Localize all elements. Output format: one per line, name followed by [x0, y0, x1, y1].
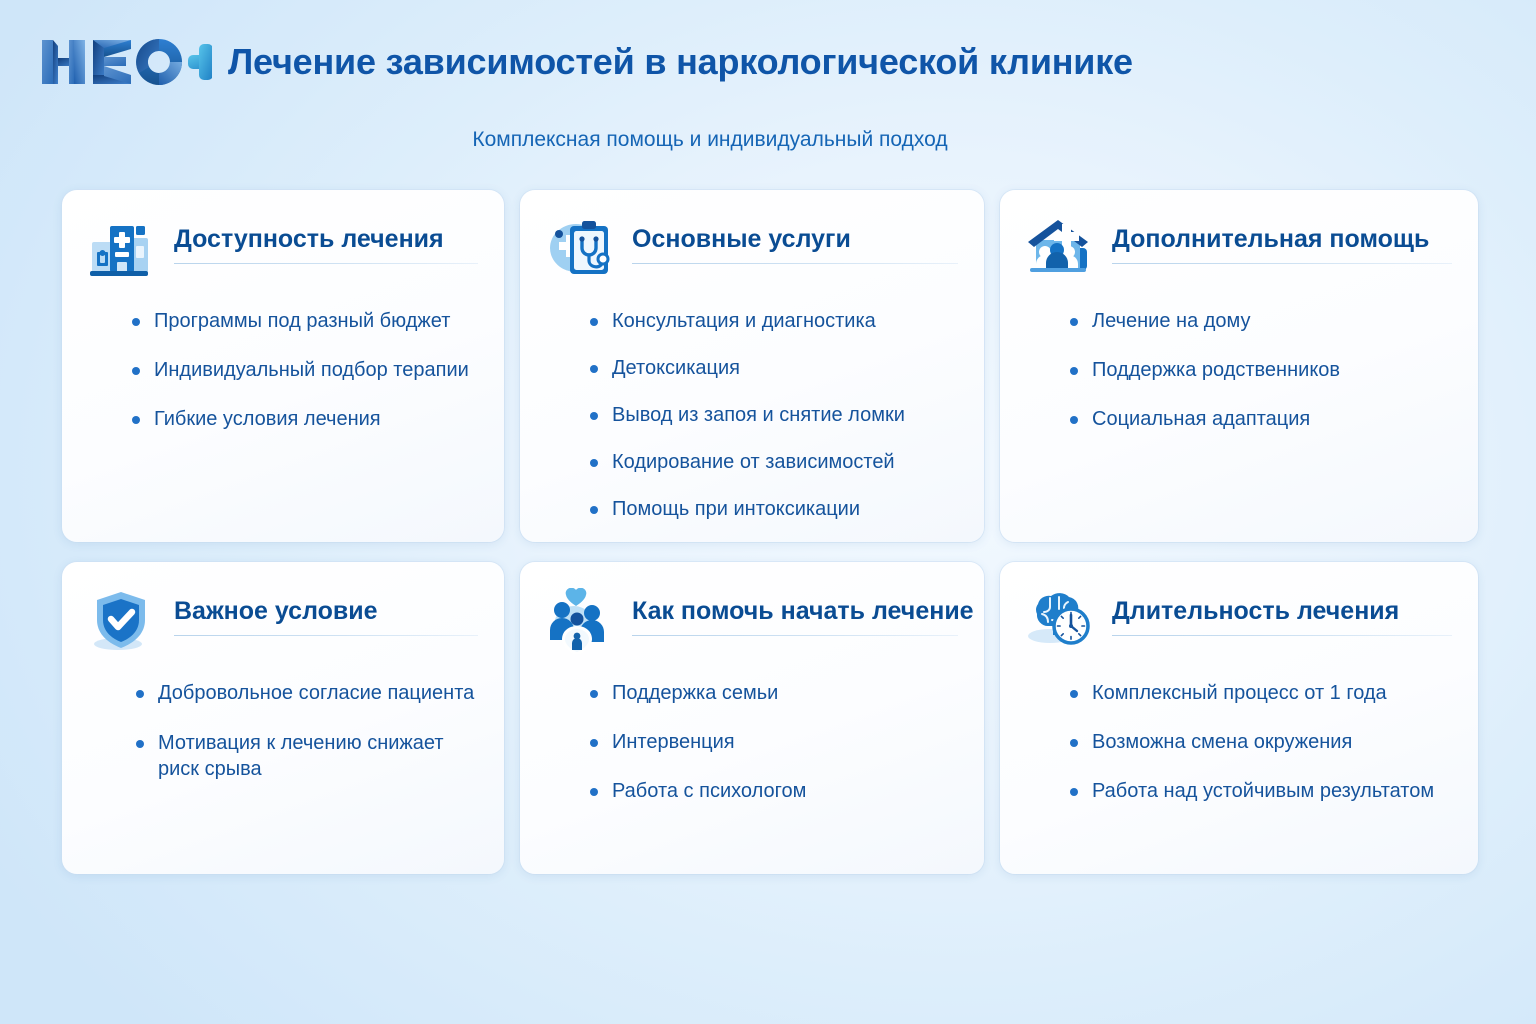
card-title: Основные услуги	[632, 226, 958, 252]
title-divider	[632, 635, 958, 636]
card-header: Важное условие	[88, 586, 478, 660]
card-title: Как помочь начать лечение	[632, 598, 958, 624]
list-item: Консультация и диагностика	[590, 308, 958, 334]
card-header: Основные услуги	[546, 214, 958, 288]
title-divider	[174, 635, 478, 636]
card-bullet-list: Комплексный процесс от 1 года Возможна с…	[1026, 680, 1452, 804]
card-title: Важное условие	[174, 598, 478, 624]
family-heart-icon	[546, 588, 620, 654]
list-item: Комплексный процесс от 1 года	[1070, 680, 1452, 706]
page-subtitle: Комплексная помощь и индивидуальный подх…	[0, 128, 1420, 152]
card-title-wrap: Дополнительная помощь	[1112, 214, 1452, 264]
hospital-building-icon	[88, 216, 162, 282]
list-item: Детоксикация	[590, 355, 958, 381]
card-bullet-list: Консультация и диагностика Детоксикация …	[546, 308, 958, 522]
card-availability[interactable]: Доступность лечения Программы под разный…	[62, 190, 504, 542]
card-title-wrap: Длительность лечения	[1112, 586, 1452, 636]
card-services[interactable]: Основные услуги Консультация и диагности…	[520, 190, 984, 542]
card-extra-help[interactable]: Дополнительная помощь Лечение на дому По…	[1000, 190, 1478, 542]
card-bullet-list: Лечение на дому Поддержка родственников …	[1026, 308, 1452, 432]
list-item: Кодирование от зависимостей	[590, 449, 958, 475]
card-header: Дополнительная помощь	[1026, 214, 1452, 288]
card-bullet-list: Программы под разный бюджет Индивидуальн…	[88, 308, 478, 432]
list-item: Программы под разный бюджет	[132, 308, 478, 334]
clipboard-stethoscope-icon	[546, 216, 620, 282]
page-header: Лечение зависимостей в наркологической к…	[0, 0, 1536, 175]
list-item: Социальная адаптация	[1070, 406, 1452, 432]
title-divider	[1112, 635, 1452, 636]
card-header: Доступность лечения	[88, 214, 478, 288]
title-divider	[1112, 263, 1452, 264]
list-item: Лечение на дому	[1070, 308, 1452, 334]
brain-clock-icon	[1026, 588, 1100, 654]
list-item: Гибкие условия лечения	[132, 406, 478, 432]
card-duration[interactable]: Длительность лечения Комплексный процесс…	[1000, 562, 1478, 874]
card-header: Как помочь начать лечение	[546, 586, 958, 660]
card-title: Доступность лечения	[174, 226, 478, 252]
list-item: Мотивация к лечению снижает риск срыва	[136, 730, 478, 782]
title-divider	[174, 263, 478, 264]
card-title: Дополнительная помощь	[1112, 226, 1452, 252]
card-title: Длительность лечения	[1112, 598, 1452, 624]
title-divider	[632, 263, 958, 264]
card-title-wrap: Как помочь начать лечение	[632, 586, 958, 636]
card-title-wrap: Основные услуги	[632, 214, 958, 264]
neo-plus-logo-icon	[36, 34, 212, 90]
list-item: Работа с психологом	[590, 778, 958, 804]
cards-grid: Доступность лечения Программы под разный…	[62, 190, 1474, 874]
list-item: Возможна смена окружения	[1070, 729, 1452, 755]
home-family-care-icon	[1026, 216, 1100, 282]
brand-row: Лечение зависимостей в наркологической к…	[36, 34, 1133, 90]
card-title-wrap: Важное условие	[174, 586, 478, 636]
list-item: Поддержка семьи	[590, 680, 958, 706]
list-item: Помощь при интоксикации	[590, 496, 958, 522]
card-how-to-start[interactable]: Как помочь начать лечение Поддержка семь…	[520, 562, 984, 874]
list-item: Работа над устойчивым результатом	[1070, 778, 1452, 804]
list-item: Интервенция	[590, 729, 958, 755]
shield-check-icon	[88, 588, 162, 654]
card-title-wrap: Доступность лечения	[174, 214, 478, 264]
list-item: Добровольное согласие пациента	[136, 680, 478, 706]
card-bullet-list: Поддержка семьи Интервенция Работа с пси…	[546, 680, 958, 804]
card-consent[interactable]: Важное условие Добровольное согласие пац…	[62, 562, 504, 874]
list-item: Вывод из запоя и снятие ломки	[590, 402, 958, 428]
page-title: Лечение зависимостей в наркологической к…	[228, 44, 1133, 80]
list-item: Поддержка родственников	[1070, 357, 1452, 383]
card-header: Длительность лечения	[1026, 586, 1452, 660]
list-item: Индивидуальный подбор терапии	[132, 357, 478, 383]
card-bullet-list: Добровольное согласие пациента Мотивация…	[88, 680, 478, 782]
